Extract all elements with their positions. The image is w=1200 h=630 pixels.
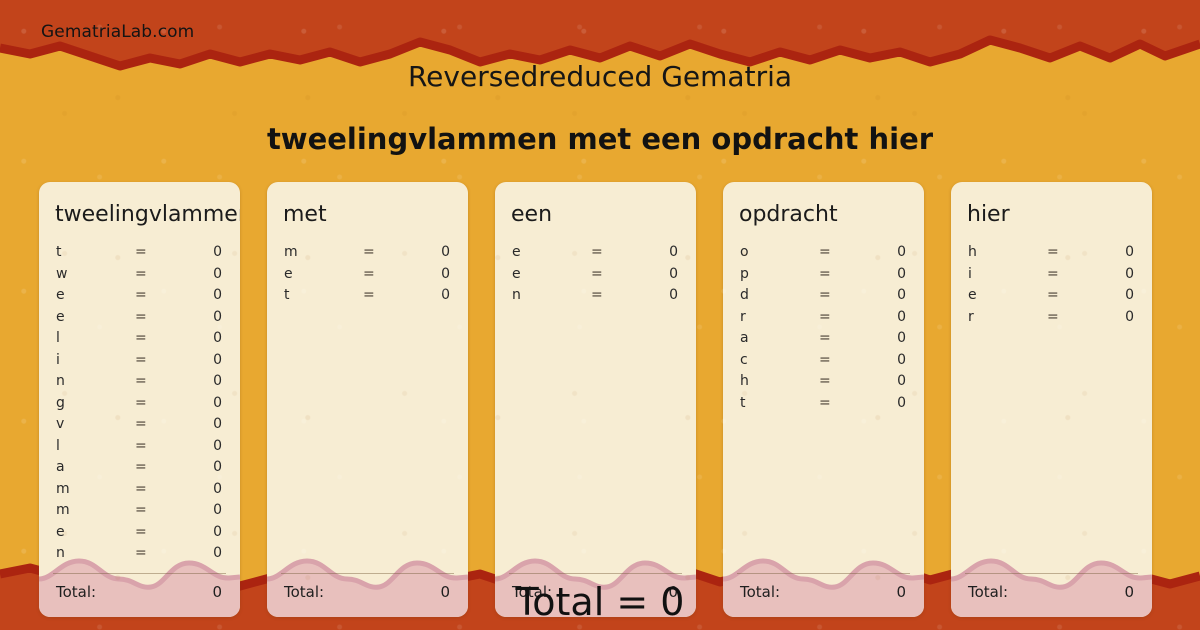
letter-value-row: i=0 — [951, 266, 1152, 288]
letter: n — [56, 545, 65, 561]
letter: p — [740, 266, 749, 282]
letter-value: 0 — [213, 352, 222, 368]
letter-value: 0 — [213, 459, 222, 475]
letter-value: 0 — [669, 266, 678, 282]
letter-value-row: n=0 — [495, 287, 696, 309]
equals-sign: = — [135, 266, 147, 282]
equals-sign: = — [819, 244, 831, 260]
letter: n — [56, 373, 65, 389]
letter: e — [284, 266, 293, 282]
letter-value-row: n=0 — [39, 373, 240, 395]
letter-value: 0 — [897, 352, 906, 368]
letter-value-list: m=0e=0t=0 — [267, 244, 468, 309]
letter: d — [740, 287, 749, 303]
total-divider — [509, 573, 682, 574]
word-card: eene=0e=0n=0Total:0 — [495, 182, 696, 617]
equals-sign: = — [1047, 287, 1059, 303]
letter: t — [740, 395, 746, 411]
letter-value: 0 — [213, 524, 222, 540]
letter: h — [740, 373, 749, 389]
equals-sign: = — [135, 330, 147, 346]
letter: e — [512, 244, 521, 260]
letter-value-row: e=0 — [267, 266, 468, 288]
word-card-title: tweelingvlammen — [55, 202, 240, 227]
equals-sign: = — [819, 395, 831, 411]
letter-value-row: m=0 — [267, 244, 468, 266]
letter: i — [56, 352, 60, 368]
letter-value-row: l=0 — [39, 330, 240, 352]
site-logo[interactable]: GematriaLab.com — [41, 22, 194, 42]
letter-value: 0 — [213, 438, 222, 454]
letter-value: 0 — [213, 287, 222, 303]
letter: i — [968, 266, 972, 282]
letter: e — [56, 309, 65, 325]
total-divider — [53, 573, 226, 574]
letter-value-list: e=0e=0n=0 — [495, 244, 696, 309]
letter: m — [284, 244, 298, 260]
letter-value: 0 — [441, 244, 450, 260]
letter-value: 0 — [213, 266, 222, 282]
equals-sign: = — [363, 266, 375, 282]
word-card: opdrachto=0p=0d=0r=0a=0c=0h=0t=0Total:0 — [723, 182, 924, 617]
letter-value-row: t=0 — [723, 395, 924, 417]
equals-sign: = — [591, 244, 603, 260]
letter-value: 0 — [213, 481, 222, 497]
letter-value-row: h=0 — [723, 373, 924, 395]
letter-value: 0 — [213, 244, 222, 260]
equals-sign: = — [135, 373, 147, 389]
letter-value-row: i=0 — [39, 352, 240, 374]
letter-value: 0 — [1125, 266, 1134, 282]
letter-value: 0 — [213, 309, 222, 325]
letter-value: 0 — [897, 373, 906, 389]
equals-sign: = — [591, 266, 603, 282]
equals-sign: = — [819, 287, 831, 303]
letter: e — [56, 524, 65, 540]
letter-value: 0 — [897, 266, 906, 282]
word-card-title: een — [511, 202, 552, 227]
grand-total: Total = 0 — [0, 580, 1200, 624]
letter: l — [56, 330, 60, 346]
letter-value-row: e=0 — [951, 287, 1152, 309]
equals-sign: = — [363, 244, 375, 260]
letter-value: 0 — [1125, 287, 1134, 303]
equals-sign: = — [591, 287, 603, 303]
phrase-heading: tweelingvlammen met een opdracht hier — [0, 122, 1200, 156]
letter-value: 0 — [669, 287, 678, 303]
letter-value: 0 — [213, 545, 222, 561]
equals-sign: = — [819, 352, 831, 368]
equals-sign: = — [363, 287, 375, 303]
equals-sign: = — [819, 266, 831, 282]
letter-value: 0 — [897, 330, 906, 346]
letter-value: 0 — [213, 330, 222, 346]
word-card-title: opdracht — [739, 202, 838, 227]
word-card-title: hier — [967, 202, 1010, 227]
letter-value: 0 — [213, 416, 222, 432]
letter: t — [284, 287, 290, 303]
letter-value-row: e=0 — [39, 287, 240, 309]
equals-sign: = — [135, 244, 147, 260]
total-divider — [281, 573, 454, 574]
letter-value: 0 — [669, 244, 678, 260]
equals-sign: = — [135, 502, 147, 518]
letter: h — [968, 244, 977, 260]
letter-value-row: m=0 — [39, 502, 240, 524]
equals-sign: = — [135, 287, 147, 303]
letter-value-row: r=0 — [723, 309, 924, 331]
equals-sign: = — [135, 459, 147, 475]
letter: e — [56, 287, 65, 303]
word-card: hierh=0i=0e=0r=0Total:0 — [951, 182, 1152, 617]
equals-sign: = — [819, 330, 831, 346]
letter-value-row: e=0 — [495, 266, 696, 288]
letter-value-row: o=0 — [723, 244, 924, 266]
letter-value: 0 — [897, 244, 906, 260]
letter-value-list: h=0i=0e=0r=0 — [951, 244, 1152, 330]
word-card: metm=0e=0t=0Total:0 — [267, 182, 468, 617]
letter-value-row: r=0 — [951, 309, 1152, 331]
letter-value-row: e=0 — [39, 309, 240, 331]
letter: a — [740, 330, 749, 346]
letter-value: 0 — [1125, 244, 1134, 260]
letter: e — [968, 287, 977, 303]
letter-value-row: a=0 — [723, 330, 924, 352]
letter: m — [56, 481, 70, 497]
equals-sign: = — [1047, 309, 1059, 325]
letter: v — [56, 416, 64, 432]
letter-value-row: t=0 — [39, 244, 240, 266]
equals-sign: = — [135, 481, 147, 497]
equals-sign: = — [1047, 266, 1059, 282]
letter-value-list: o=0p=0d=0r=0a=0c=0h=0t=0 — [723, 244, 924, 416]
word-card-list: tweelingvlamment=0w=0e=0e=0l=0i=0n=0g=0v… — [39, 182, 1161, 617]
equals-sign: = — [819, 373, 831, 389]
letter: a — [56, 459, 65, 475]
total-divider — [737, 573, 910, 574]
letter-value: 0 — [897, 309, 906, 325]
letter-value-row: p=0 — [723, 266, 924, 288]
letter-value-row: w=0 — [39, 266, 240, 288]
letter: n — [512, 287, 521, 303]
letter: r — [968, 309, 974, 325]
word-card-title: met — [283, 202, 327, 227]
equals-sign: = — [135, 352, 147, 368]
letter-value: 0 — [897, 287, 906, 303]
equals-sign: = — [1047, 244, 1059, 260]
letter-value-row: d=0 — [723, 287, 924, 309]
letter: r — [740, 309, 746, 325]
letter-value-row: e=0 — [39, 524, 240, 546]
letter-value-row: v=0 — [39, 416, 240, 438]
equals-sign: = — [135, 309, 147, 325]
letter-value-row: m=0 — [39, 481, 240, 503]
letter: g — [56, 395, 65, 411]
letter: o — [740, 244, 749, 260]
letter-value: 0 — [441, 287, 450, 303]
letter: l — [56, 438, 60, 454]
letter-value: 0 — [213, 373, 222, 389]
letter-value-row: h=0 — [951, 244, 1152, 266]
letter-value: 0 — [897, 395, 906, 411]
letter: m — [56, 502, 70, 518]
letter: w — [56, 266, 67, 282]
letter-value-row: c=0 — [723, 352, 924, 374]
letter: c — [740, 352, 748, 368]
equals-sign: = — [135, 524, 147, 540]
word-card: tweelingvlamment=0w=0e=0e=0l=0i=0n=0g=0v… — [39, 182, 240, 617]
letter-value-row: g=0 — [39, 395, 240, 417]
infographic-canvas: GematriaLab.com Reversedreduced Gematria… — [0, 0, 1200, 630]
letter-value-row: a=0 — [39, 459, 240, 481]
letter-value-list: t=0w=0e=0e=0l=0i=0n=0g=0v=0l=0a=0m=0m=0e… — [39, 244, 240, 567]
letter-value: 0 — [213, 395, 222, 411]
letter: t — [56, 244, 62, 260]
letter-value-row: t=0 — [267, 287, 468, 309]
letter-value-row: n=0 — [39, 545, 240, 567]
page-title: Reversedreduced Gematria — [0, 60, 1200, 93]
letter: e — [512, 266, 521, 282]
letter-value-row: e=0 — [495, 244, 696, 266]
total-divider — [965, 573, 1138, 574]
equals-sign: = — [135, 395, 147, 411]
equals-sign: = — [135, 438, 147, 454]
equals-sign: = — [819, 309, 831, 325]
equals-sign: = — [135, 416, 147, 432]
equals-sign: = — [135, 545, 147, 561]
letter-value: 0 — [1125, 309, 1134, 325]
letter-value: 0 — [441, 266, 450, 282]
letter-value: 0 — [213, 502, 222, 518]
letter-value-row: l=0 — [39, 438, 240, 460]
